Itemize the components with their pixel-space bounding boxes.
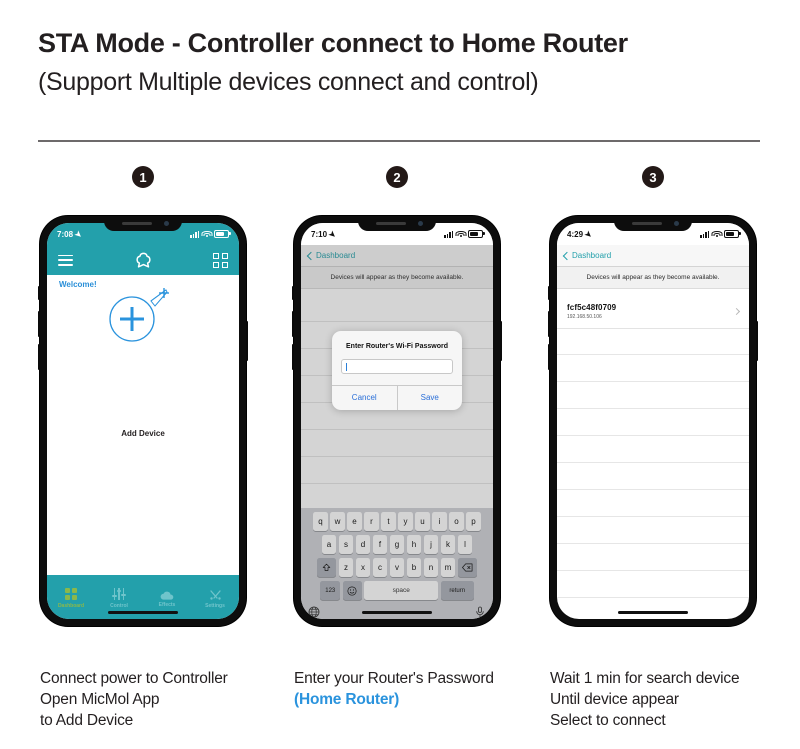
signal-bars-icon (444, 231, 453, 238)
location-arrow-icon: ➤ (327, 228, 338, 239)
list-item[interactable] (557, 544, 749, 571)
list-item[interactable] (557, 409, 749, 436)
device-name: fcf5c48f0709 (567, 303, 616, 312)
cloud-icon (160, 588, 174, 599)
infographic-page: STA Mode - Controller connect to Home Ro… (0, 0, 800, 749)
volume-down-button (548, 344, 550, 370)
caption-step-3: Wait 1 min for search device Until devic… (550, 668, 739, 731)
status-time-group: 7:10 ➤ (311, 230, 336, 239)
list-item[interactable] (301, 457, 493, 484)
phone-2-screen: 7:10 ➤ Dashboard Devices will appear as … (301, 223, 493, 619)
key-y[interactable]: y (398, 512, 413, 531)
volume-down-button (38, 344, 40, 370)
step-badge-3: 3 (642, 166, 664, 188)
list-item[interactable] (557, 436, 749, 463)
status-time: 7:10 (311, 230, 327, 239)
battery-icon (468, 230, 483, 239)
flower-logo-icon (135, 252, 152, 269)
key-w[interactable]: w (330, 512, 345, 531)
chevron-left-icon (307, 251, 315, 259)
key-x[interactable]: x (356, 558, 371, 577)
key-i[interactable]: i (432, 512, 447, 531)
location-arrow-icon: ➤ (583, 228, 594, 239)
back-to-dashboard-button[interactable]: Dashboard (308, 251, 355, 260)
alert-buttons: Cancel Save (332, 385, 462, 410)
volume-up-button (38, 311, 40, 337)
key-c[interactable]: c (373, 558, 388, 577)
caption-line: Wait 1 min for search device (550, 668, 739, 689)
volume-up-button (292, 311, 294, 337)
list-item[interactable] (557, 463, 749, 490)
device-list (557, 328, 749, 598)
mute-switch (292, 286, 294, 300)
key-m[interactable]: m (441, 558, 456, 577)
ios-keyboard: q w e r t y u i o p a s d f g h (301, 508, 493, 619)
tab-label: Effects (159, 602, 176, 608)
globe-icon[interactable] (308, 605, 320, 617)
add-device-label[interactable]: Add Device (47, 429, 239, 438)
tab-label: Settings (205, 603, 225, 609)
list-item[interactable] (557, 490, 749, 517)
space-key[interactable]: space (364, 581, 438, 600)
caption-line: to Add Device (40, 710, 228, 731)
phone-1-screen: 7:08 ➤ Welcome! (47, 223, 239, 619)
tab-label: Dashboard (58, 603, 84, 609)
emoji-icon[interactable] (343, 581, 362, 600)
signal-bars-icon (700, 231, 709, 238)
nav-bar-3: Dashboard (557, 245, 749, 267)
key-j[interactable]: j (424, 535, 439, 554)
notch (614, 216, 692, 231)
grid-icon (65, 588, 77, 600)
key-d[interactable]: d (356, 535, 371, 554)
wifi-password-alert: Enter Router's Wi-Fi Password Cancel Sav… (332, 331, 462, 410)
list-item[interactable] (557, 355, 749, 382)
status-time-group: 7:08 ➤ (57, 230, 82, 239)
key-r[interactable]: r (364, 512, 379, 531)
step-badge-2: 2 (386, 166, 408, 188)
chevron-right-icon (733, 308, 740, 315)
keyboard-row-2: a s d f g h j k l (301, 535, 493, 554)
power-button (246, 321, 248, 361)
wifi-icon (202, 231, 211, 238)
key-h[interactable]: h (407, 535, 422, 554)
page-title: STA Mode - Controller connect to Home Ro… (38, 28, 628, 59)
key-n[interactable]: n (424, 558, 439, 577)
devices-hint-text: Devices will appear as they become avail… (557, 267, 749, 289)
sliders-icon (113, 588, 126, 600)
key-o[interactable]: o (449, 512, 464, 531)
page-subtitle: (Support Multiple devices connect and co… (38, 68, 538, 97)
status-icons (444, 230, 483, 239)
mute-switch (38, 286, 40, 300)
notch (358, 216, 436, 231)
keyboard-row-3: z x c v b n m (301, 558, 493, 577)
list-item[interactable] (301, 484, 493, 511)
nav-bar-2: Dashboard (301, 245, 493, 267)
device-list-item[interactable]: fcf5c48f0709 192.168.50.106 (557, 295, 749, 329)
welcome-text: Welcome! (59, 280, 97, 289)
tab-dashboard[interactable]: Dashboard (47, 575, 95, 619)
location-arrow-icon: ➤ (73, 228, 84, 239)
cancel-button[interactable]: Cancel (332, 386, 397, 410)
keyboard-row-4: 123 space return (301, 581, 493, 600)
battery-icon (724, 230, 739, 239)
list-item[interactable] (557, 382, 749, 409)
caption-line-highlight: (Home Router) (294, 689, 494, 710)
devices-hint-text: Devices will appear as they become avail… (301, 267, 493, 289)
key-k[interactable]: k (441, 535, 456, 554)
battery-icon (214, 230, 229, 239)
back-label: Dashboard (316, 251, 355, 260)
list-item[interactable] (301, 295, 493, 322)
phone-3-screen: 4:29 ➤ Dashboard Devices will appear as … (557, 223, 749, 619)
back-label: Dashboard (572, 251, 611, 260)
wifi-icon (456, 231, 465, 238)
key-b[interactable]: b (407, 558, 422, 577)
hamburger-icon[interactable] (58, 255, 73, 266)
caption-line: Select to connect (550, 710, 739, 731)
status-time-group: 4:29 ➤ (567, 230, 592, 239)
home-indicator (108, 611, 178, 614)
caption-step-2: Enter your Router's Password (Home Route… (294, 668, 494, 710)
signal-bars-icon (190, 231, 199, 238)
caption-line: Connect power to Controller (40, 668, 228, 689)
key-l[interactable]: l (458, 535, 473, 554)
key-q[interactable]: q (313, 512, 328, 531)
mute-switch (548, 286, 550, 300)
return-key[interactable]: return (441, 581, 474, 600)
tools-icon (209, 588, 222, 600)
app-top-bar (47, 245, 239, 275)
key-p[interactable]: p (466, 512, 481, 531)
add-device-magnifier-callout (103, 285, 173, 347)
power-button (500, 321, 502, 361)
chevron-left-icon (563, 251, 571, 259)
power-button (756, 321, 758, 361)
key-f[interactable]: f (373, 535, 388, 554)
alert-title: Enter Router's Wi-Fi Password (332, 331, 462, 359)
password-input[interactable] (341, 359, 453, 374)
caption-line: Enter your Router's Password (294, 668, 494, 689)
key-v[interactable]: v (390, 558, 405, 577)
microphone-icon[interactable] (474, 605, 486, 617)
status-icons (700, 230, 739, 239)
header-divider (38, 140, 760, 142)
key-g[interactable]: g (390, 535, 405, 554)
caption-step-1: Connect power to Controller Open MicMol … (40, 668, 228, 731)
step-badge-1: 1 (132, 166, 154, 188)
backspace-icon[interactable] (458, 558, 477, 577)
qr-scan-icon[interactable] (213, 253, 228, 268)
key-a[interactable]: a (322, 535, 337, 554)
key-s[interactable]: s (339, 535, 354, 554)
status-time: 7:08 (57, 230, 73, 239)
phone-mockup-2: 7:10 ➤ Dashboard Devices will appear as … (294, 216, 500, 626)
phone-mockup-3: 4:29 ➤ Dashboard Devices will appear as … (550, 216, 756, 626)
key-u[interactable]: u (415, 512, 430, 531)
notch (104, 216, 182, 231)
volume-up-button (548, 311, 550, 337)
numbers-key[interactable]: 123 (320, 581, 340, 600)
save-button[interactable]: Save (397, 386, 463, 410)
wifi-icon (712, 231, 721, 238)
key-z[interactable]: z (339, 558, 354, 577)
home-indicator (618, 611, 688, 614)
list-item[interactable] (301, 430, 493, 457)
tab-settings[interactable]: Settings (191, 575, 239, 619)
home-indicator (362, 611, 432, 614)
list-item[interactable] (557, 328, 749, 355)
tab-label: Control (110, 603, 128, 609)
volume-down-button (292, 344, 294, 370)
list-item[interactable] (557, 571, 749, 598)
key-t[interactable]: t (381, 512, 396, 531)
shift-icon[interactable] (317, 558, 336, 577)
list-item[interactable] (557, 517, 749, 544)
keyboard-row-1: q w e r t y u i o p (301, 512, 493, 531)
caption-line: Until device appear (550, 689, 739, 710)
phone-mockup-1: 7:08 ➤ Welcome! (40, 216, 246, 626)
device-ip: 192.168.50.106 (567, 314, 616, 320)
status-icons (190, 230, 229, 239)
back-to-dashboard-button[interactable]: Dashboard (564, 251, 611, 260)
caption-line: Open MicMol App (40, 689, 228, 710)
key-e[interactable]: e (347, 512, 362, 531)
status-time: 4:29 (567, 230, 583, 239)
device-info: fcf5c48f0709 192.168.50.106 (567, 303, 616, 320)
